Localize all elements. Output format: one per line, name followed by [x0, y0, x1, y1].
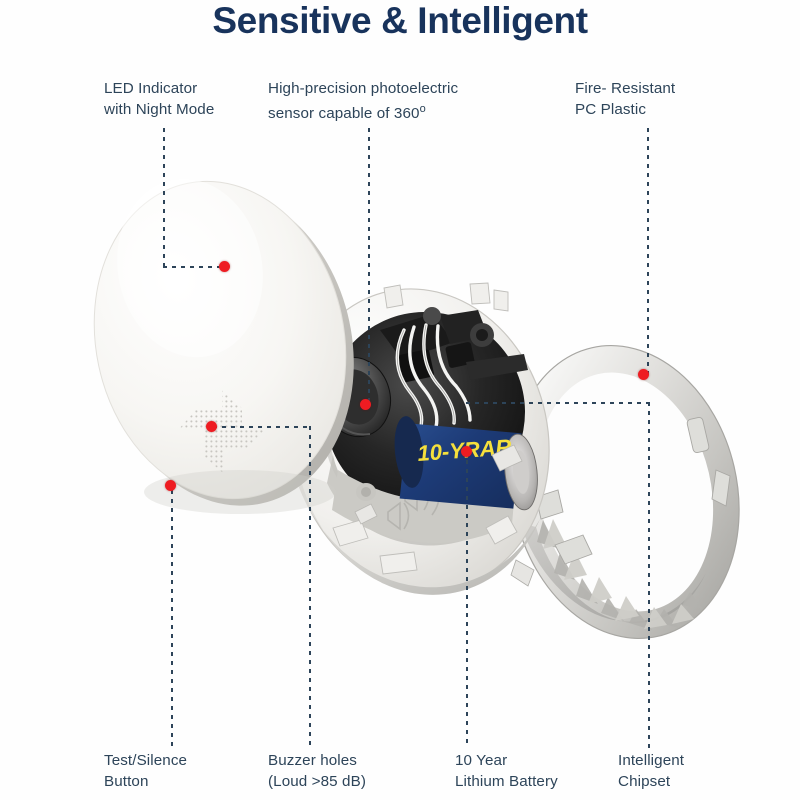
leader-line-chipset-horizontal: [466, 402, 649, 404]
leader-line-sensor-vertical: [368, 128, 370, 406]
callout-label-led-indicator: LED Indicator with Night Mode: [104, 78, 254, 120]
leader-line-buzzer-horizontal: [213, 426, 311, 428]
leader-line-test-button-vertical: [171, 490, 173, 748]
callout-label-test-silence-button: Test/Silence Button: [104, 750, 264, 792]
callout-dot-fire-resistant-plastic: [638, 369, 649, 380]
callout-label-sensor-text: High-precision photoelectric sensor capa…: [268, 80, 458, 122]
leader-line-buzzer-vertical: [309, 426, 311, 748]
infographic-canvas: 10-YRAR: [0, 0, 800, 800]
callout-dot-buzzer-holes: [206, 421, 217, 432]
callout-label-photoelectric-sensor: High-precision photoelectric sensor capa…: [268, 78, 538, 124]
callout-dot-photoelectric-sensor: [360, 399, 371, 410]
leader-line-chipset-vertical: [648, 402, 650, 748]
callout-label-fire-resistant-plastic: Fire- Resistant PC Plastic: [575, 78, 755, 120]
leader-line-led-horizontal: [163, 266, 225, 268]
leader-line-battery-vertical: [466, 451, 468, 748]
degree-symbol: o: [420, 103, 426, 115]
page-title: Sensitive & Intelligent: [0, 0, 800, 44]
callout-label-buzzer-holes: Buzzer holes (Loud >85 dB): [268, 750, 448, 792]
callout-label-intelligent-chipset: Intelligent Chipset: [618, 750, 778, 792]
leader-line-fire-resistant-vertical: [647, 128, 649, 378]
callout-dot-lithium-battery: [461, 446, 472, 457]
callout-label-lithium-battery: 10 Year Lithium Battery: [455, 750, 625, 792]
leader-line-led-vertical: [163, 128, 165, 268]
callout-dot-led-indicator: [219, 261, 230, 272]
callout-dot-test-silence-button: [165, 480, 176, 491]
